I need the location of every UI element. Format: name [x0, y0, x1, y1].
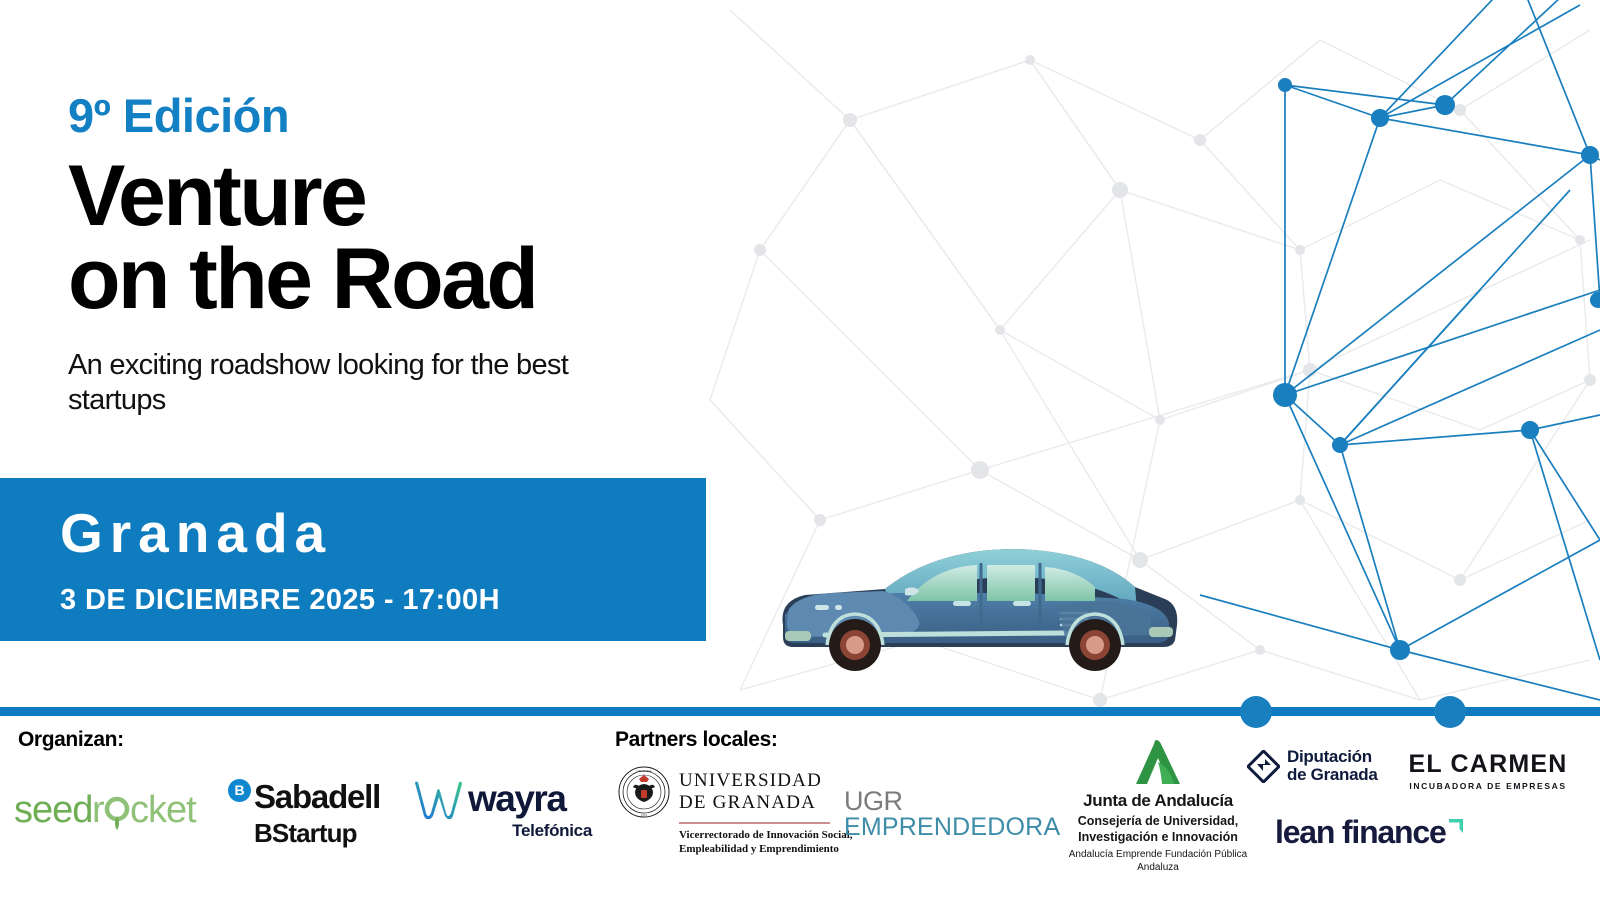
svg-text:r: r	[92, 789, 105, 831]
page-title: Venture on the Road	[68, 155, 708, 322]
diputacion-diamond-icon	[1247, 750, 1280, 783]
promo-banner: 9º Edición Venture on the Road An exciti…	[0, 0, 1600, 900]
organizers-label: Organizan:	[18, 728, 124, 752]
ugr-line-2: DE GRANADA	[679, 792, 822, 814]
carmen-tagline: INCUBADORA DE EMPRESAS	[1408, 781, 1568, 791]
junta-fundacion: Andalucía Emprende Fundación Pública And…	[1058, 849, 1258, 875]
logo-wayra[interactable]: wayra Telefónica	[412, 778, 592, 848]
event-date: 3 DE DICIEMBRE 2025 - 17:00H	[60, 586, 500, 615]
edition-label: 9º Edición	[68, 92, 708, 139]
logo-universidad-de-granada[interactable]: GRANADA 1531 UNIVERSIDAD DE GRANADA Vice…	[618, 766, 833, 876]
logo-junta-de-andalucia[interactable]: Junta de Andalucía Consejería de Univers…	[1058, 738, 1258, 883]
logo-diputacion-de-granada[interactable]: Diputación de Granada	[1247, 748, 1392, 800]
logo-seedrocket[interactable]: seed r cket	[14, 786, 209, 832]
footer-logos: Organizan: Partners locales: seed r cket…	[0, 718, 1600, 900]
logo-el-carmen[interactable]: EL CARMEN INCUBADORA DE EMPRESAS	[1408, 750, 1568, 798]
title-line-1: Venture	[68, 155, 708, 238]
svg-text:seed: seed	[14, 789, 92, 831]
sabadell-b-mark: B	[228, 779, 251, 802]
vintage-car-illustration	[765, 505, 1185, 685]
ugre-line-2: EMPRENDEDORA	[844, 815, 1060, 840]
city-date-banner: Granada 3 DE DICIEMBRE 2025 - 17:00H	[0, 478, 706, 641]
junta-a-icon	[1128, 738, 1188, 786]
junta-title: Junta de Andalucía	[1058, 791, 1258, 811]
diputacion-line-2: de Granada	[1287, 766, 1378, 784]
sabadell-wordmark: Sabadell	[254, 778, 380, 816]
svg-text:GRANADA: GRANADA	[637, 769, 653, 773]
telefonica-wordmark: Telefónica	[412, 821, 592, 841]
wayra-w-icon	[412, 779, 464, 819]
diputacion-line-1: Diputación	[1287, 748, 1378, 766]
lean-finance-corner-icon	[1447, 817, 1464, 834]
hero-subtitle: An exciting roadshow looking for the bes…	[68, 348, 668, 419]
svg-text:cket: cket	[130, 789, 197, 831]
hero-text-block: 9º Edición Venture on the Road An exciti…	[68, 92, 708, 419]
wayra-wordmark: wayra	[468, 778, 565, 820]
junta-consejeria: Consejería de Universidad, Investigación…	[1058, 813, 1258, 845]
logo-sabadell-bstartup[interactable]: B Sabadell BStartup	[228, 778, 388, 846]
logo-ugr-emprendedora[interactable]: UGR EMPRENDEDORA	[848, 778, 1053, 856]
ugr-divider	[679, 822, 830, 824]
ugr-line-1: UNIVERSIDAD	[679, 770, 822, 792]
svg-text:1531: 1531	[641, 813, 648, 817]
title-line-2: on the Road	[68, 238, 708, 321]
lean-finance-wordmark: lean finance	[1275, 814, 1446, 851]
logo-lean-finance[interactable]: lean finance	[1275, 814, 1480, 858]
city-name: Granada	[60, 506, 332, 561]
carmen-wordmark: EL CARMEN	[1408, 750, 1568, 779]
bstartup-wordmark: BStartup	[254, 818, 388, 849]
ugr-subtitle: Vicerrectorado de Innovación Social, Emp…	[679, 828, 854, 857]
ugr-crest-icon: GRANADA 1531	[618, 766, 670, 818]
ugre-line-1: UGR	[844, 789, 1060, 815]
partners-label: Partners locales:	[615, 728, 777, 752]
